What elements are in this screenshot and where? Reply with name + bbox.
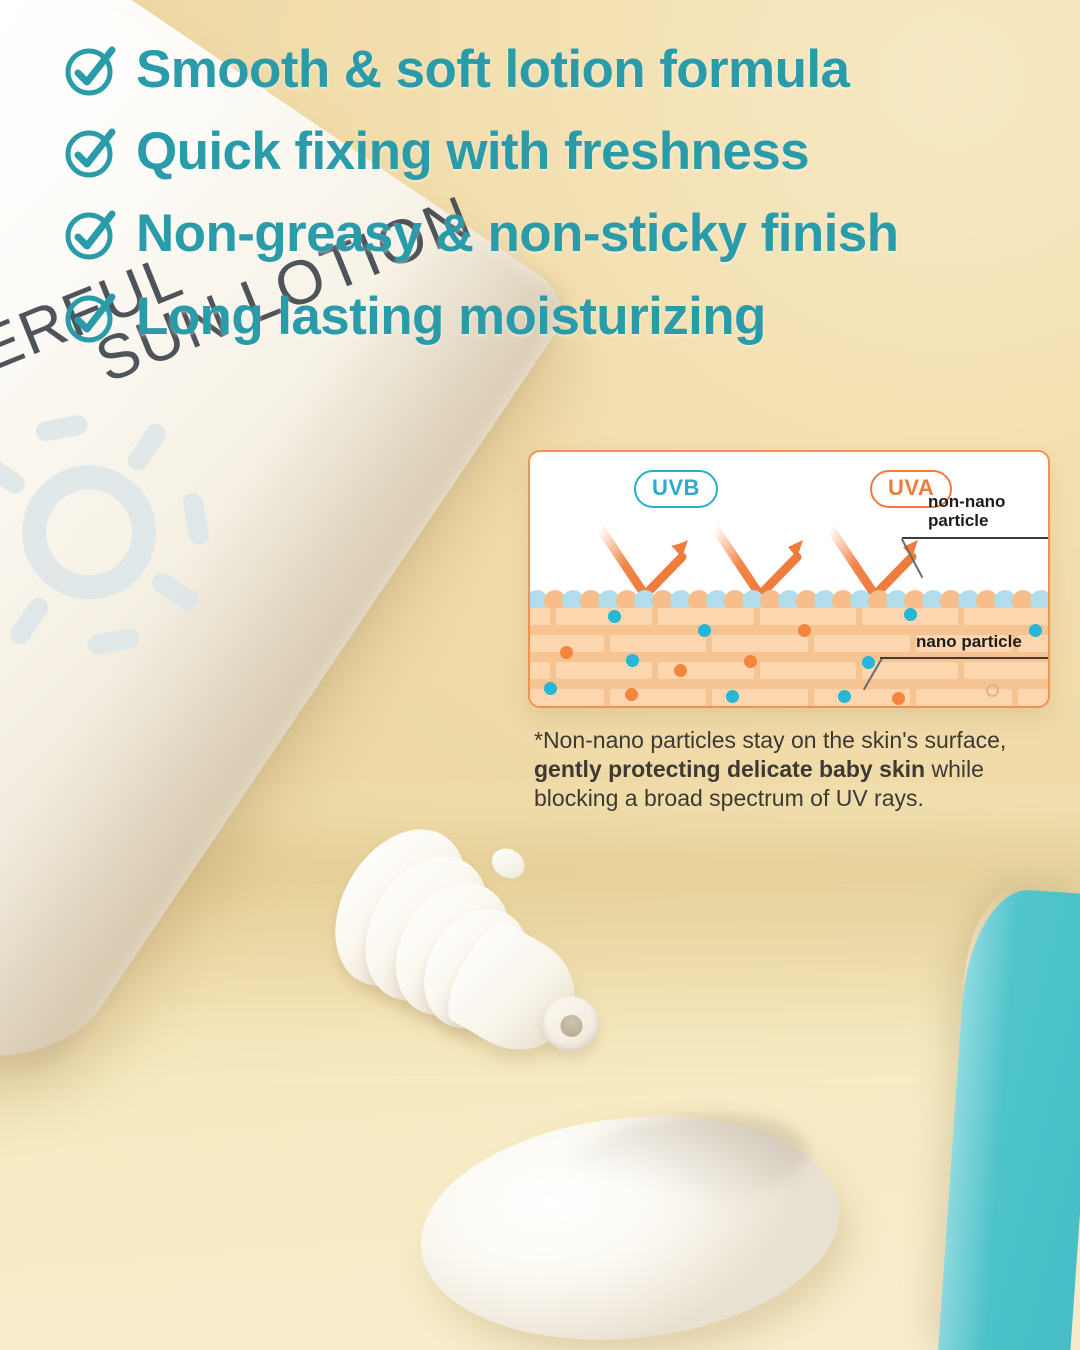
nano-particle <box>626 654 639 667</box>
sun-ray <box>149 569 203 615</box>
check-circle-icon <box>64 125 118 179</box>
check-circle-icon <box>64 207 118 261</box>
brick <box>556 608 652 625</box>
feature-item: Long lasting moisturizing <box>64 289 1054 345</box>
nano-particle <box>560 646 573 659</box>
feature-label: Quick fixing with freshness <box>136 124 809 180</box>
footnote-emphasis: gently protecting delicate baby skin <box>534 756 925 782</box>
feature-list: Smooth & soft lotion formula Quick fixin… <box>64 42 1054 371</box>
sun-ray <box>86 627 141 657</box>
nano-particle <box>904 608 917 621</box>
nano-particle <box>798 624 811 637</box>
brick <box>814 635 910 652</box>
nano-particle <box>625 688 638 701</box>
brick <box>658 662 754 679</box>
nano-particle-label: nano particle <box>916 632 1022 651</box>
non-nano-label-line-2: particle <box>928 511 1005 530</box>
check-circle-icon <box>64 43 118 97</box>
brick <box>760 662 856 679</box>
feature-label: Long lasting moisturizing <box>136 289 766 345</box>
nano-particle <box>544 682 557 695</box>
brick <box>964 662 1050 679</box>
brick <box>760 608 856 625</box>
nano-particle <box>726 690 739 703</box>
sun-ring <box>0 439 182 625</box>
sun-ray <box>181 491 211 546</box>
nano-label-underline <box>880 657 1050 659</box>
feature-item: Quick fixing with freshness <box>64 124 1054 180</box>
brick <box>610 635 706 652</box>
nano-particle <box>698 624 711 637</box>
nano-particle-outline <box>986 684 999 697</box>
feature-label: Non-greasy & non-sticky finish <box>136 206 898 262</box>
brick <box>530 608 550 625</box>
uv-protection-diagram: UVB UVA <box>528 450 1050 708</box>
lotion-drop-shading <box>560 1104 812 1221</box>
brick <box>964 608 1050 625</box>
nano-particle <box>744 655 757 668</box>
brick <box>1018 635 1050 652</box>
footnote-part-1: *Non-nano particles stay on the skin's s… <box>534 727 1006 753</box>
footnote-text: *Non-nano particles stay on the skin's s… <box>534 726 1054 813</box>
check-circle-icon <box>64 290 118 344</box>
brick <box>530 662 550 679</box>
feature-item: Non-greasy & non-sticky finish <box>64 206 1054 262</box>
brick <box>712 635 808 652</box>
nano-particle <box>862 656 875 669</box>
nano-particle <box>838 690 851 703</box>
nano-particle <box>674 664 687 677</box>
brick <box>1018 689 1050 706</box>
feature-label: Smooth & soft lotion formula <box>136 42 849 98</box>
non-nano-label-line-1: non-nano <box>928 492 1005 511</box>
non-nano-particle-label: non-nano particle <box>928 492 1005 531</box>
brick <box>530 689 604 706</box>
nano-particle <box>892 692 905 705</box>
sun-ray <box>0 452 29 498</box>
product-feature-graphic: WATERFUL SUN LOTION Smooth & soft lotion… <box>0 0 1080 1350</box>
brick <box>658 608 754 625</box>
nano-particle <box>608 610 621 623</box>
uv-ray-1 <box>600 528 688 595</box>
uv-ray-2 <box>715 528 803 595</box>
sun-ray <box>124 420 170 474</box>
feature-item: Smooth & soft lotion formula <box>64 42 1054 98</box>
sun-ray <box>7 594 53 648</box>
nano-particle <box>1029 624 1042 637</box>
nozzle-nub <box>487 843 530 884</box>
sun-ray <box>34 413 89 443</box>
non-nano-label-underline <box>902 537 1050 539</box>
brick <box>556 662 652 679</box>
